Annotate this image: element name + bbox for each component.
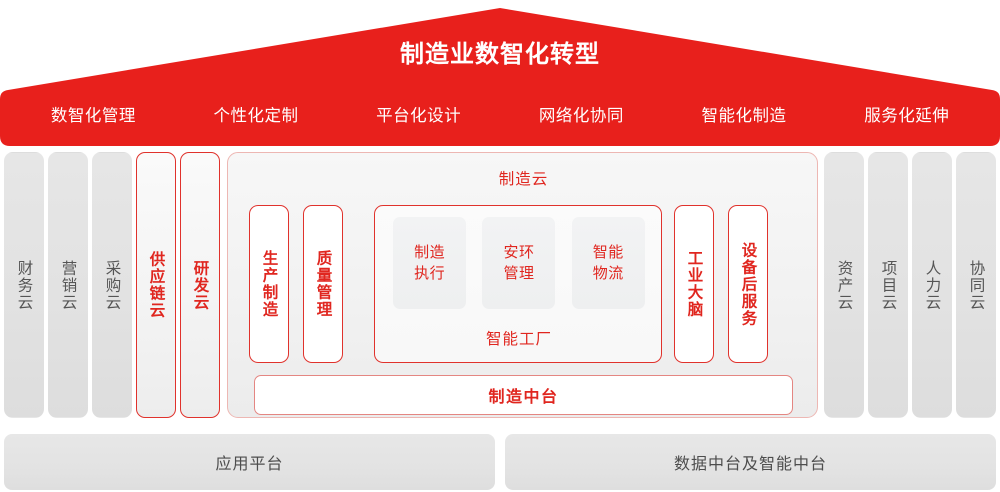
column-finance-cloud[interactable]: 财务云	[4, 152, 44, 418]
pill-quality-management[interactable]: 质量管理	[303, 205, 343, 363]
column-marketing-cloud[interactable]: 营销云	[48, 152, 88, 418]
column-label: 采购云	[103, 260, 122, 311]
pill-equipment-after-service[interactable]: 设备后服务	[728, 205, 768, 363]
column-supply-chain-cloud[interactable]: 供应链云	[136, 152, 176, 418]
roof-pillar-5: 服务化延伸	[825, 104, 988, 128]
pill-label: 工业大脑	[685, 250, 704, 318]
box-label: 智能物流	[593, 242, 624, 284]
smart-factory-box-ehs[interactable]: 安环管理	[482, 217, 555, 309]
column-project-cloud[interactable]: 项目云	[868, 152, 908, 418]
smart-factory-box-mes[interactable]: 制造执行	[393, 217, 466, 309]
manufacturing-middle-platform-bar[interactable]: 制造中台	[254, 375, 793, 415]
pill-label: 设备后服务	[739, 242, 758, 327]
box-label: 安环管理	[503, 242, 534, 284]
column-label: 项目云	[879, 260, 898, 311]
column-procurement-cloud[interactable]: 采购云	[92, 152, 132, 418]
bar-data-and-ai-platform[interactable]: 数据中台及智能中台	[505, 434, 996, 490]
bar-label: 应用平台	[215, 450, 283, 474]
column-asset-cloud[interactable]: 资产云	[824, 152, 864, 418]
pill-label: 质量管理	[314, 250, 333, 318]
manufacturing-cloud-title: 制造云	[228, 170, 819, 190]
column-label: 供应链云	[147, 251, 166, 319]
page-title: 制造业数智化转型	[0, 40, 1000, 70]
column-label: 营销云	[59, 260, 78, 311]
bar-application-platform[interactable]: 应用平台	[4, 434, 495, 490]
smart-factory-panel: 制造执行 安环管理 智能物流 智能工厂	[374, 205, 662, 363]
roof-pillar-0: 数智化管理	[12, 104, 175, 128]
manufacturing-cloud-panel: 制造云 生产制造 质量管理 制造执行 安环管理 智能物流	[227, 152, 818, 418]
roof-pillar-1: 个性化定制	[175, 104, 338, 128]
smart-factory-box-list: 制造执行 安环管理 智能物流	[375, 217, 663, 309]
pill-production-manufacturing[interactable]: 生产制造	[249, 205, 289, 363]
column-collaboration-cloud[interactable]: 协同云	[956, 152, 996, 418]
column-label: 协同云	[967, 260, 986, 311]
roof-pillar-4: 智能化制造	[663, 104, 826, 128]
middle-platform-label: 制造中台	[488, 383, 558, 407]
box-label: 制造执行	[414, 242, 445, 284]
smart-factory-title: 智能工厂	[375, 330, 663, 350]
smart-factory-box-logistics[interactable]: 智能物流	[572, 217, 645, 309]
column-hr-cloud[interactable]: 人力云	[912, 152, 952, 418]
diagram-canvas: 制造业数智化转型 数智化管理 个性化定制 平台化设计 网络化协同 智能化制造 服…	[0, 0, 1000, 492]
foundation-bars: 应用平台 数据中台及智能中台	[0, 434, 1000, 490]
column-label: 人力云	[923, 260, 942, 311]
middle-band: 财务云 营销云 采购云 供应链云 研发云 制造云 生产制造 质量管理	[0, 152, 1000, 418]
column-label: 财务云	[15, 260, 34, 311]
roof-pillar-3: 网络化协同	[500, 104, 663, 128]
roof-section: 制造业数智化转型 数智化管理 个性化定制 平台化设计 网络化协同 智能化制造 服…	[0, 0, 1000, 147]
column-label: 资产云	[835, 260, 854, 311]
column-label: 研发云	[191, 260, 210, 311]
column-rnd-cloud[interactable]: 研发云	[180, 152, 220, 418]
pill-industrial-brain[interactable]: 工业大脑	[674, 205, 714, 363]
bar-label: 数据中台及智能中台	[674, 450, 827, 474]
roof-pillar-2: 平台化设计	[337, 104, 500, 128]
roof-pillar-list: 数智化管理 个性化定制 平台化设计 网络化协同 智能化制造 服务化延伸	[0, 104, 1000, 128]
pill-label: 生产制造	[260, 250, 279, 318]
